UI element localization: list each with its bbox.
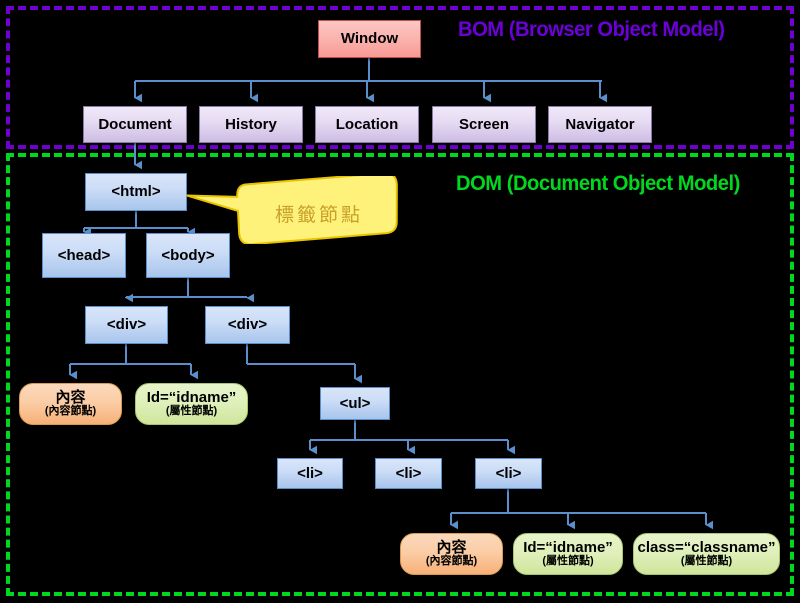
node-label: <li>: [396, 466, 422, 482]
node-div-2[interactable]: <div>: [205, 306, 290, 344]
node-html[interactable]: <html>: [85, 173, 187, 211]
bom-region-title: BOM (Browser Object Model): [458, 18, 724, 42]
node-history[interactable]: History: [199, 106, 303, 143]
node-label: <ul>: [340, 396, 371, 412]
node-label: Id=“idname”: [147, 390, 237, 406]
node-label: Navigator: [565, 117, 634, 133]
node-content-li3[interactable]: 內容 (內容節點): [400, 533, 503, 575]
node-navigator[interactable]: Navigator: [548, 106, 652, 143]
node-label: <div>: [107, 317, 146, 333]
callout-bubble[interactable]: 標籤節點: [186, 176, 401, 244]
node-content-div1[interactable]: 內容 (內容節點): [19, 383, 122, 425]
node-label: <li>: [297, 466, 323, 482]
node-label: <html>: [111, 184, 160, 200]
node-label: 內容: [436, 540, 466, 556]
node-ul[interactable]: <ul>: [320, 387, 390, 420]
node-sublabel: (屬性節點): [681, 556, 732, 568]
node-label: <div>: [228, 317, 267, 333]
node-div-1[interactable]: <div>: [85, 306, 168, 344]
node-label: <head>: [58, 248, 111, 264]
node-attr-class-li3[interactable]: class=“classname” (屬性節點): [633, 533, 780, 575]
node-screen[interactable]: Screen: [432, 106, 536, 143]
node-sublabel: (屬性節點): [542, 556, 593, 568]
node-label: Window: [341, 31, 398, 47]
node-label: Location: [336, 117, 399, 133]
node-li-3[interactable]: <li>: [475, 458, 542, 489]
node-label: 內容: [55, 390, 85, 406]
callout-label: 標籤節點: [254, 200, 384, 227]
node-window[interactable]: Window: [318, 20, 421, 58]
node-sublabel: (屬性節點): [166, 406, 217, 418]
node-head[interactable]: <head>: [42, 233, 126, 278]
node-label: <body>: [161, 248, 214, 264]
node-location[interactable]: Location: [315, 106, 419, 143]
node-label: Document: [98, 117, 171, 133]
node-label: class=“classname”: [637, 540, 775, 556]
node-label: Id=“idname”: [523, 540, 613, 556]
node-sublabel: (內容節點): [426, 556, 477, 568]
dom-region-title: DOM (Document Object Model): [456, 172, 740, 196]
node-label: <li>: [496, 466, 522, 482]
node-attr-id-div1[interactable]: Id=“idname” (屬性節點): [135, 383, 248, 425]
node-li-1[interactable]: <li>: [277, 458, 343, 489]
node-document[interactable]: Document: [83, 106, 187, 143]
node-sublabel: (內容節點): [45, 406, 96, 418]
diagram-canvas: BOM (Browser Object Model) DOM (Document…: [0, 0, 800, 603]
node-attr-id-li3[interactable]: Id=“idname” (屬性節點): [513, 533, 623, 575]
node-label: History: [225, 117, 277, 133]
node-li-2[interactable]: <li>: [375, 458, 442, 489]
node-label: Screen: [459, 117, 509, 133]
